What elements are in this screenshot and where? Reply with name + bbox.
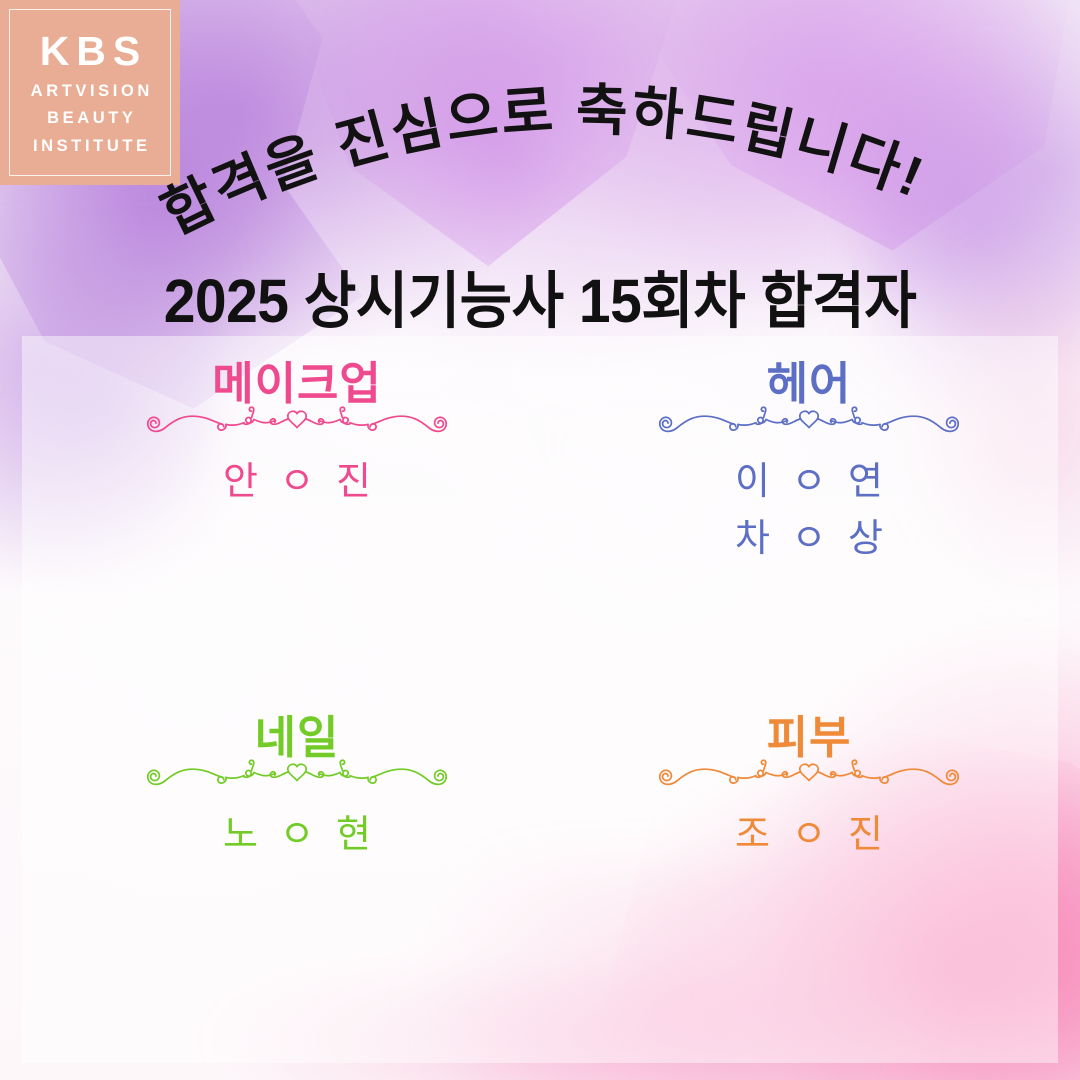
category-makeup: 메이크업 [38,336,556,700]
logo-line-institute: INSTITUTE [29,138,150,155]
congratulations-poster: KBS ARTVISION BEAUTY INSTITUTE 합격을 진심으로 … [0,0,1080,1080]
names-list-nail: 노 ㅇ 현 [217,812,377,860]
names-list-skin: 조 ㅇ 진 [729,812,889,860]
arched-headline-text: 합격을 진심으로 축하드립니다! [152,78,934,246]
category-title-skin: 피부 [767,714,852,763]
name-item: 안 ㅇ 진 [217,459,377,507]
name-item: 이 ㅇ 연 [729,459,889,507]
arched-headline: 합격을 진심으로 축하드립니다! [150,92,940,252]
logo-line-kbs: KBS [33,31,148,72]
name-item: 차 ㅇ 상 [729,516,889,564]
names-list-makeup: 안 ㅇ 진 [217,459,377,507]
category-title-makeup: 메이크업 [212,360,382,409]
category-title-hair: 헤어 [767,360,852,409]
category-nail: 네일 [38,700,556,1064]
category-title-nail: 네일 [255,714,340,763]
name-item: 조 ㅇ 진 [729,812,889,860]
page-title: 2025 상시기능사 15회차 합격자 [0,252,1080,341]
logo-line-beauty: BEAUTY [43,110,136,127]
category-skin: 피부 [550,700,1068,1064]
categories-grid: 메이크업 [22,336,1058,1063]
logo-line-artvision: ARTVISION [27,83,153,100]
category-hair: 헤어 [550,336,1068,700]
name-item: 노 ㅇ 현 [217,812,377,860]
names-list-hair: 이 ㅇ 연 차 ㅇ 상 [729,459,889,564]
